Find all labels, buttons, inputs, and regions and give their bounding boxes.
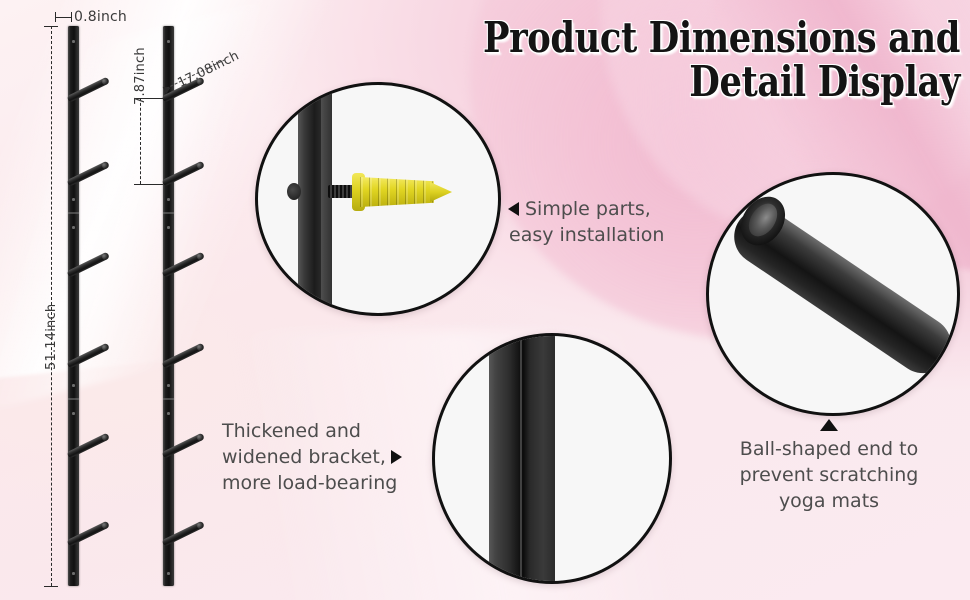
callout-simple-parts-line-1: Simple parts, bbox=[525, 198, 651, 220]
callout-simple-parts-line-2: easy installation bbox=[509, 224, 664, 246]
page-title-line-1: Product Dimensions and bbox=[481, 16, 960, 60]
rack-diagram: 51.14inch 0.8inch 7.87inch 17.08inch bbox=[0, 0, 270, 600]
callout-thickened-bracket-line-2: widened bracket, bbox=[222, 446, 386, 468]
dimension-label-total-height: 51.14inch bbox=[44, 304, 59, 370]
triangle-up-icon bbox=[820, 419, 838, 431]
page-title-line-2: Detail Display bbox=[481, 60, 960, 104]
triangle-left-icon bbox=[508, 202, 519, 216]
page-title: Product Dimensions and Detail Display bbox=[481, 16, 960, 103]
detail-image-square-tube bbox=[435, 336, 669, 581]
callout-ball-shaped-end-line-3: yoga mats bbox=[779, 490, 879, 512]
dimension-label-hook-spacing: 7.87inch bbox=[133, 47, 148, 105]
callout-ball-shaped-end: Ball-shaped end to prevent scratching yo… bbox=[700, 420, 958, 515]
detail-circle-ball-shaped-end bbox=[706, 172, 960, 416]
detail-circle-simple-parts bbox=[255, 82, 501, 316]
callout-thickened-bracket-line-3: more load-bearing bbox=[222, 472, 397, 494]
triangle-right-icon bbox=[391, 450, 402, 464]
detail-circle-thickened-bracket bbox=[432, 333, 672, 584]
callout-ball-shaped-end-line-2: prevent scratching bbox=[740, 464, 919, 486]
dimension-label-hook-length: 17.08inch bbox=[175, 48, 241, 91]
detail-image-rod-end bbox=[709, 175, 957, 413]
detail-image-screw-anchor bbox=[258, 85, 498, 313]
callout-thickened-bracket: Thickened and widened bracket, more load… bbox=[222, 418, 402, 497]
product-detail-infographic: Product Dimensions and Detail Display bbox=[0, 0, 970, 600]
dimension-label-post-width: 0.8inch bbox=[74, 9, 127, 25]
triangle-up-icon-wrap bbox=[700, 420, 958, 432]
callout-thickened-bracket-line-1: Thickened and bbox=[222, 420, 361, 442]
callout-simple-parts: Simple parts, easy installation bbox=[508, 196, 664, 248]
wall-anchor bbox=[352, 177, 448, 207]
callout-ball-shaped-end-line-1: Ball-shaped end to bbox=[740, 438, 918, 460]
